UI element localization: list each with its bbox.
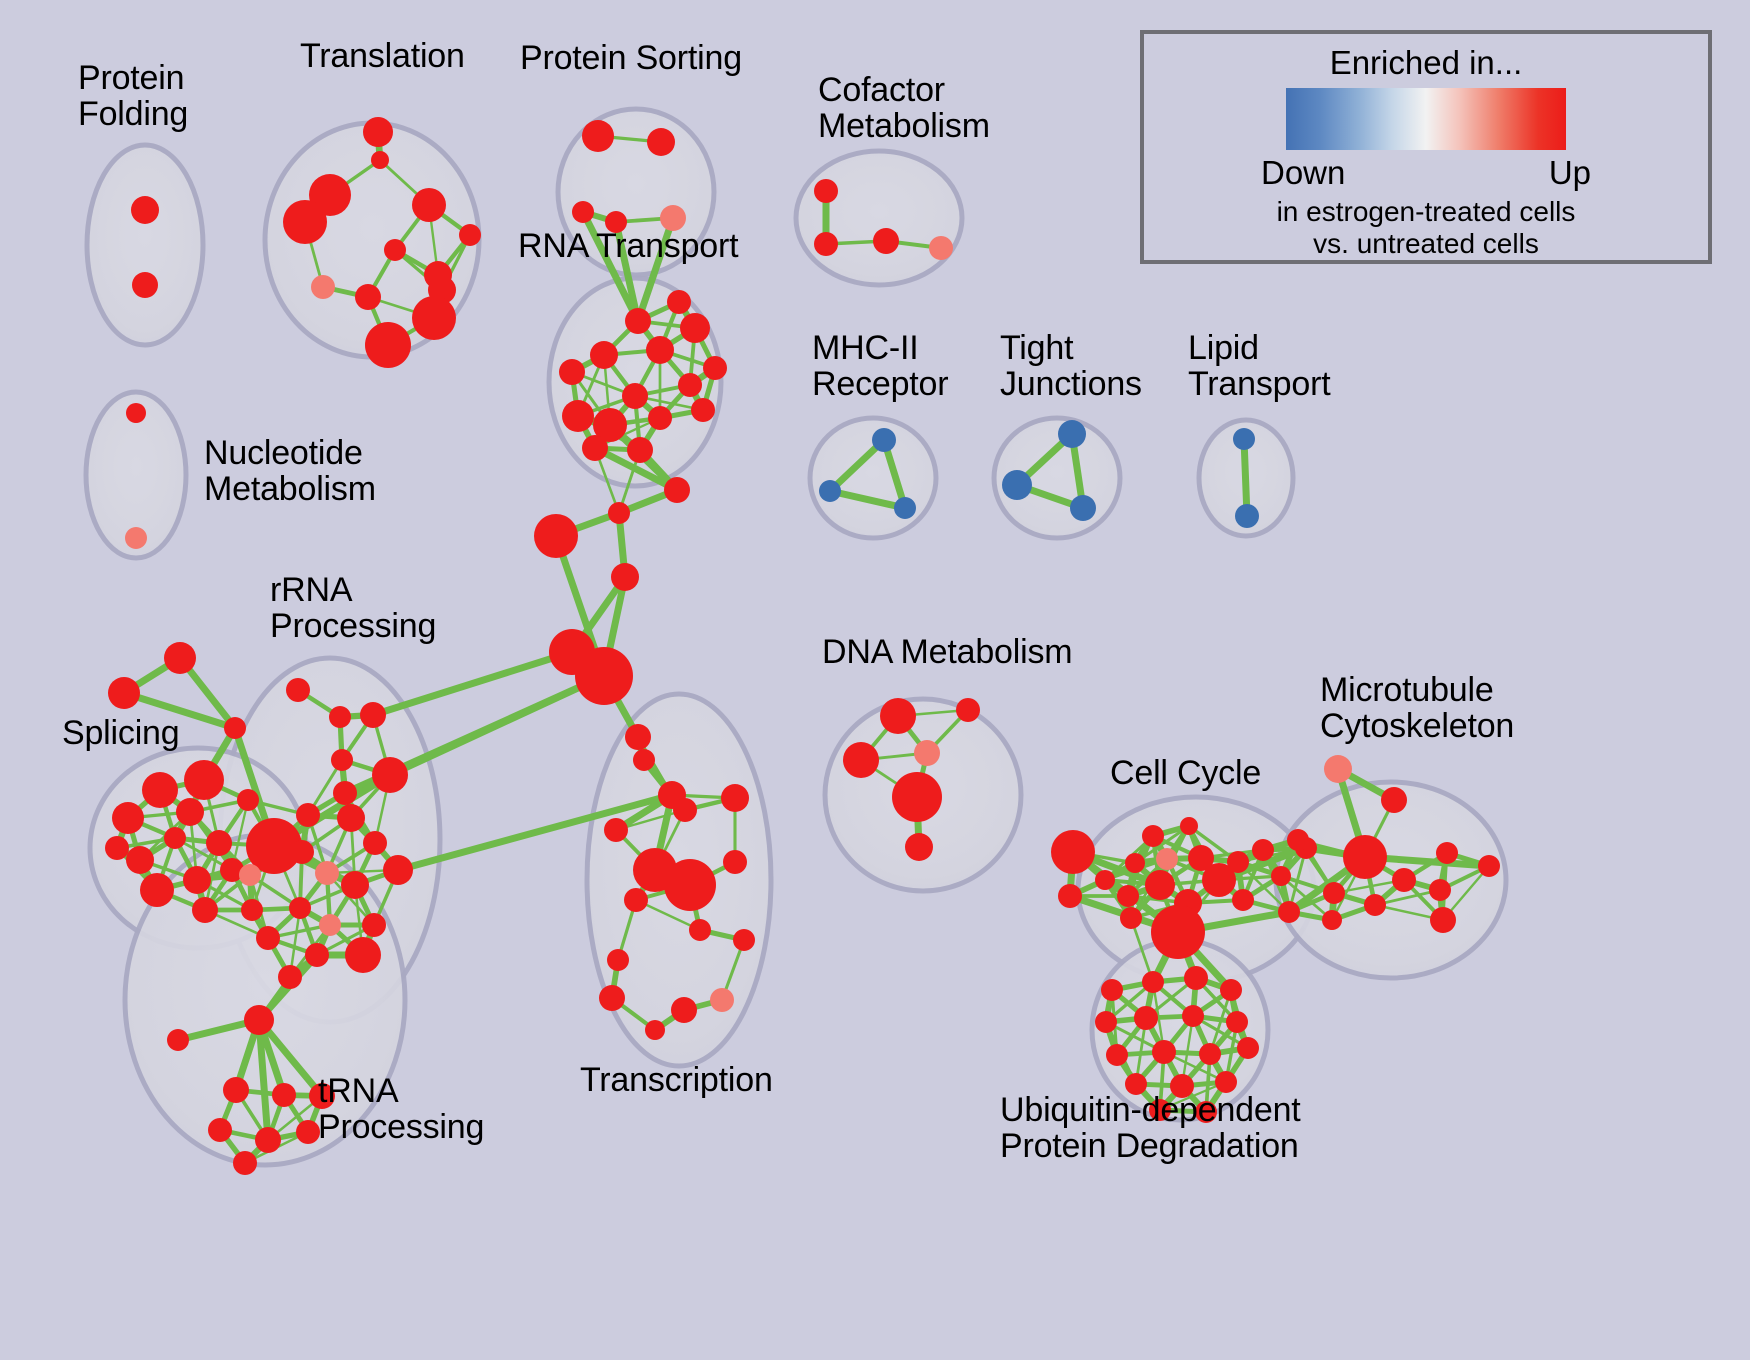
network-node[interactable] — [140, 873, 174, 907]
network-node[interactable] — [305, 943, 329, 967]
cluster-label-line: Metabolism — [204, 471, 376, 507]
network-node[interactable] — [673, 798, 697, 822]
cluster-hull-protein-folding[interactable] — [87, 145, 203, 345]
network-node[interactable] — [562, 400, 594, 432]
network-node[interactable] — [337, 804, 365, 832]
network-node[interactable] — [914, 740, 940, 766]
network-node[interactable] — [237, 789, 259, 811]
legend-caption: in estrogen-treated cells vs. untreated … — [1277, 196, 1576, 260]
network-node[interactable] — [1002, 470, 1032, 500]
network-node[interactable] — [645, 1020, 665, 1040]
network-node[interactable] — [1381, 787, 1407, 813]
cluster-label-transcription: Transcription — [580, 1062, 773, 1098]
network-node[interactable] — [1324, 755, 1352, 783]
network-node[interactable] — [363, 831, 387, 855]
cluster-label-mhc-ii-receptor: MHC-IIReceptor — [812, 330, 948, 402]
network-node[interactable] — [164, 827, 186, 849]
network-node[interactable] — [1180, 817, 1198, 835]
network-node[interactable] — [233, 1151, 257, 1175]
network-node[interactable] — [710, 988, 734, 1012]
network-node[interactable] — [1134, 1006, 1158, 1030]
network-node[interactable] — [599, 985, 625, 1011]
network-node[interactable] — [1120, 907, 1142, 929]
network-node[interactable] — [184, 760, 224, 800]
network-node[interactable] — [1323, 882, 1345, 904]
network-node[interactable] — [289, 897, 311, 919]
legend-caption-line-1: in estrogen-treated cells — [1277, 196, 1576, 228]
network-node[interactable] — [272, 1083, 296, 1107]
network-node[interactable] — [559, 359, 585, 385]
legend-panel: Enriched in... Down Up in estrogen-treat… — [1140, 30, 1712, 264]
network-node[interactable] — [1095, 870, 1115, 890]
network-node[interactable] — [1392, 868, 1416, 892]
network-node[interactable] — [1232, 889, 1254, 911]
network-node[interactable] — [183, 866, 211, 894]
network-node[interactable] — [1430, 907, 1456, 933]
network-node[interactable] — [1235, 504, 1259, 528]
network-node[interactable] — [126, 846, 154, 874]
cluster-label-line: Processing — [270, 608, 436, 644]
network-node[interactable] — [647, 128, 675, 156]
network-node[interactable] — [345, 937, 381, 973]
network-node[interactable] — [1287, 829, 1309, 851]
network-node[interactable] — [880, 698, 916, 734]
network-node[interactable] — [1058, 884, 1082, 908]
network-node[interactable] — [627, 437, 653, 463]
cluster-label-line: Nucleotide — [204, 435, 376, 471]
network-node[interactable] — [624, 888, 648, 912]
cluster-label-microtubule-cytoskeleton: MicrotubuleCytoskeleton — [1320, 672, 1514, 744]
cluster-label-line: Cell Cycle — [1110, 755, 1261, 791]
network-node[interactable] — [341, 871, 369, 899]
network-node[interactable] — [1142, 825, 1164, 847]
network-node[interactable] — [1051, 830, 1095, 874]
legend-high-label: Up — [1549, 154, 1591, 192]
network-node[interactable] — [1125, 853, 1145, 873]
cluster-label-translation: Translation — [300, 38, 465, 74]
network-node[interactable] — [607, 949, 629, 971]
network-node[interactable] — [125, 527, 147, 549]
network-node[interactable] — [1215, 1071, 1237, 1093]
network-node[interactable] — [108, 677, 140, 709]
network-node[interactable] — [572, 201, 594, 223]
network-node[interactable] — [412, 188, 446, 222]
cluster-label-cofactor-metabolism: CofactorMetabolism — [818, 72, 990, 144]
cluster-label-line: RNA Transport — [518, 228, 738, 264]
cluster-label-protein-sorting: Protein Sorting — [520, 40, 742, 76]
network-node[interactable] — [384, 239, 406, 261]
network-node[interactable] — [1199, 1043, 1221, 1065]
network-node[interactable] — [929, 236, 953, 260]
cluster-label-dna-metabolism: DNA Metabolism — [822, 634, 1072, 670]
cluster-label-line: Translation — [300, 38, 465, 74]
network-node[interactable] — [625, 724, 651, 750]
legend-endpoint-labels: Down Up — [1261, 154, 1591, 192]
network-node[interactable] — [239, 864, 261, 886]
cluster-label-line: tRNA — [318, 1073, 484, 1109]
network-node[interactable] — [703, 356, 727, 380]
cluster-label-line: Transport — [1188, 366, 1330, 402]
network-node[interactable] — [1233, 428, 1255, 450]
network-node[interactable] — [1095, 1011, 1117, 1033]
cluster-label-line: Splicing — [62, 715, 179, 751]
network-node[interactable] — [1237, 1037, 1259, 1059]
network-node[interactable] — [843, 742, 879, 778]
network-node[interactable] — [365, 322, 411, 368]
network-node[interactable] — [625, 308, 651, 334]
cluster-label-line: Protein Sorting — [520, 40, 742, 76]
network-node[interactable] — [721, 784, 749, 812]
network-node[interactable] — [286, 678, 310, 702]
network-node[interactable] — [329, 706, 351, 728]
network-node[interactable] — [176, 798, 204, 826]
network-node[interactable] — [814, 232, 838, 256]
cluster-label-lipid-transport: LipidTransport — [1188, 330, 1330, 402]
network-node[interactable] — [956, 698, 980, 722]
network-node[interactable] — [208, 1118, 232, 1142]
network-node[interactable] — [633, 749, 655, 771]
network-node[interactable] — [622, 383, 648, 409]
network-node[interactable] — [894, 497, 916, 519]
network-node[interactable] — [241, 899, 263, 921]
cluster-label-line: rRNA — [270, 572, 436, 608]
network-node[interactable] — [319, 914, 341, 936]
network-node[interactable] — [362, 913, 386, 937]
network-node[interactable] — [296, 1120, 320, 1144]
network-node[interactable] — [1070, 495, 1096, 521]
network-node[interactable] — [892, 772, 942, 822]
cluster-label-line: DNA Metabolism — [822, 634, 1072, 670]
network-node[interactable] — [680, 313, 710, 343]
network-node[interactable] — [872, 428, 896, 452]
cluster-label-line: Cytoskeleton — [1320, 708, 1514, 744]
network-node[interactable] — [667, 290, 691, 314]
network-node[interactable] — [1343, 835, 1387, 879]
network-node[interactable] — [1364, 894, 1386, 916]
network-node[interactable] — [278, 965, 302, 989]
network-node[interactable] — [1271, 866, 1291, 886]
network-node[interactable] — [648, 406, 672, 430]
network-node[interactable] — [1429, 879, 1451, 901]
cluster-label-line: Metabolism — [818, 108, 990, 144]
network-node[interactable] — [224, 717, 246, 739]
cluster-label-rrna-processing: rRNAProcessing — [270, 572, 436, 644]
network-node[interactable] — [1184, 966, 1208, 990]
network-node[interactable] — [664, 859, 716, 911]
network-node[interactable] — [255, 1127, 281, 1153]
network-node[interactable] — [689, 919, 711, 941]
network-node[interactable] — [814, 179, 838, 203]
network-node[interactable] — [1436, 842, 1458, 864]
network-node[interactable] — [1106, 1044, 1128, 1066]
cluster-label-line: Junctions — [1000, 366, 1142, 402]
cluster-label-line: Lipid — [1188, 330, 1330, 366]
network-node[interactable] — [1152, 1040, 1176, 1064]
cluster-label-line: Ubiquitin-dependent — [1000, 1092, 1301, 1128]
cluster-label-line: Protein Degradation — [1000, 1128, 1301, 1164]
network-node[interactable] — [691, 398, 715, 422]
network-node[interactable] — [582, 120, 614, 152]
network-node[interactable] — [723, 850, 747, 874]
network-node[interactable] — [315, 861, 339, 885]
network-node[interactable] — [206, 830, 232, 856]
network-node[interactable] — [1145, 870, 1175, 900]
network-node[interactable] — [1117, 885, 1139, 907]
cluster-label-line: Cofactor — [818, 72, 990, 108]
cluster-label-nucleotide-metabolism: NucleotideMetabolism — [204, 435, 376, 507]
cluster-label-line: Microtubule — [1320, 672, 1514, 708]
cluster-label-line: Folding — [78, 96, 188, 132]
cluster-hull-cofactor-metabolism[interactable] — [796, 151, 962, 285]
network-node[interactable] — [459, 224, 481, 246]
network-node[interactable] — [590, 341, 618, 369]
network-node[interactable] — [1478, 855, 1500, 877]
network-node[interactable] — [1226, 1011, 1248, 1033]
network-node[interactable] — [112, 802, 144, 834]
legend-low-label: Down — [1261, 154, 1345, 192]
network-node[interactable] — [192, 897, 218, 923]
network-node[interactable] — [1156, 848, 1178, 870]
cluster-label-cell-cycle: Cell Cycle — [1110, 755, 1261, 791]
network-node[interactable] — [296, 803, 320, 827]
network-node[interactable] — [733, 929, 755, 951]
network-node[interactable] — [164, 642, 196, 674]
network-node[interactable] — [873, 228, 899, 254]
network-node[interactable] — [678, 373, 702, 397]
network-node[interactable] — [311, 275, 335, 299]
network-node[interactable] — [142, 772, 178, 808]
network-node[interactable] — [131, 196, 159, 224]
network-node[interactable] — [412, 296, 456, 340]
network-node[interactable] — [256, 926, 280, 950]
network-node[interactable] — [1182, 1005, 1204, 1027]
network-node[interactable] — [355, 284, 381, 310]
network-node[interactable] — [126, 403, 146, 423]
cluster-label-rna-transport: RNA Transport — [518, 228, 738, 264]
network-node[interactable] — [582, 435, 608, 461]
cluster-label-line: Transcription — [580, 1062, 773, 1098]
cluster-label-tight-junctions: TightJunctions — [1000, 330, 1142, 402]
network-node[interactable] — [1058, 420, 1086, 448]
network-node[interactable] — [283, 200, 327, 244]
network-node[interactable] — [290, 840, 314, 864]
network-node[interactable] — [1101, 979, 1123, 1001]
network-node[interactable] — [371, 151, 389, 169]
cluster-label-trna-processing: tRNAProcessing — [318, 1073, 484, 1145]
network-node[interactable] — [244, 1005, 274, 1035]
network-node[interactable] — [611, 563, 639, 591]
network-node[interactable] — [383, 855, 413, 885]
cluster-label-line: Tight — [1000, 330, 1142, 366]
network-node[interactable] — [1252, 839, 1274, 861]
legend-title: Enriched in... — [1330, 44, 1523, 82]
network-node[interactable] — [575, 647, 633, 705]
network-node[interactable] — [360, 702, 386, 728]
network-node[interactable] — [664, 477, 690, 503]
network-node[interactable] — [331, 749, 353, 771]
network-node[interactable] — [223, 1077, 249, 1103]
cluster-label-line: Processing — [318, 1109, 484, 1145]
network-node[interactable] — [534, 514, 578, 558]
cluster-label-line: Receptor — [812, 366, 948, 402]
network-node[interactable] — [105, 836, 129, 860]
network-node[interactable] — [1322, 910, 1342, 930]
network-node[interactable] — [905, 833, 933, 861]
network-node[interactable] — [167, 1029, 189, 1051]
cluster-label-line: MHC-II — [812, 330, 948, 366]
network-node[interactable] — [1151, 905, 1205, 959]
network-node[interactable] — [1227, 851, 1249, 873]
legend-caption-line-2: vs. untreated cells — [1277, 228, 1576, 260]
network-node[interactable] — [1142, 971, 1164, 993]
network-node[interactable] — [333, 781, 357, 805]
legend-color-gradient-bar — [1286, 88, 1566, 150]
network-node[interactable] — [132, 272, 158, 298]
cluster-label-splicing: Splicing — [62, 715, 179, 751]
network-node[interactable] — [608, 502, 630, 524]
network-node[interactable] — [671, 997, 697, 1023]
cluster-label-protein-folding: ProteinFolding — [78, 60, 188, 132]
network-node[interactable] — [819, 480, 841, 502]
network-node[interactable] — [372, 757, 408, 793]
cluster-label-ubiquitin-degradation: Ubiquitin-dependentProtein Degradation — [1000, 1092, 1301, 1164]
network-node[interactable] — [1220, 979, 1242, 1001]
network-node[interactable] — [646, 336, 674, 364]
network-node[interactable] — [604, 818, 628, 842]
cluster-label-line: Protein — [78, 60, 188, 96]
network-canvas: ProteinFoldingTranslationProtein Sorting… — [0, 0, 1750, 1360]
network-node[interactable] — [363, 117, 393, 147]
network-node[interactable] — [1278, 901, 1300, 923]
